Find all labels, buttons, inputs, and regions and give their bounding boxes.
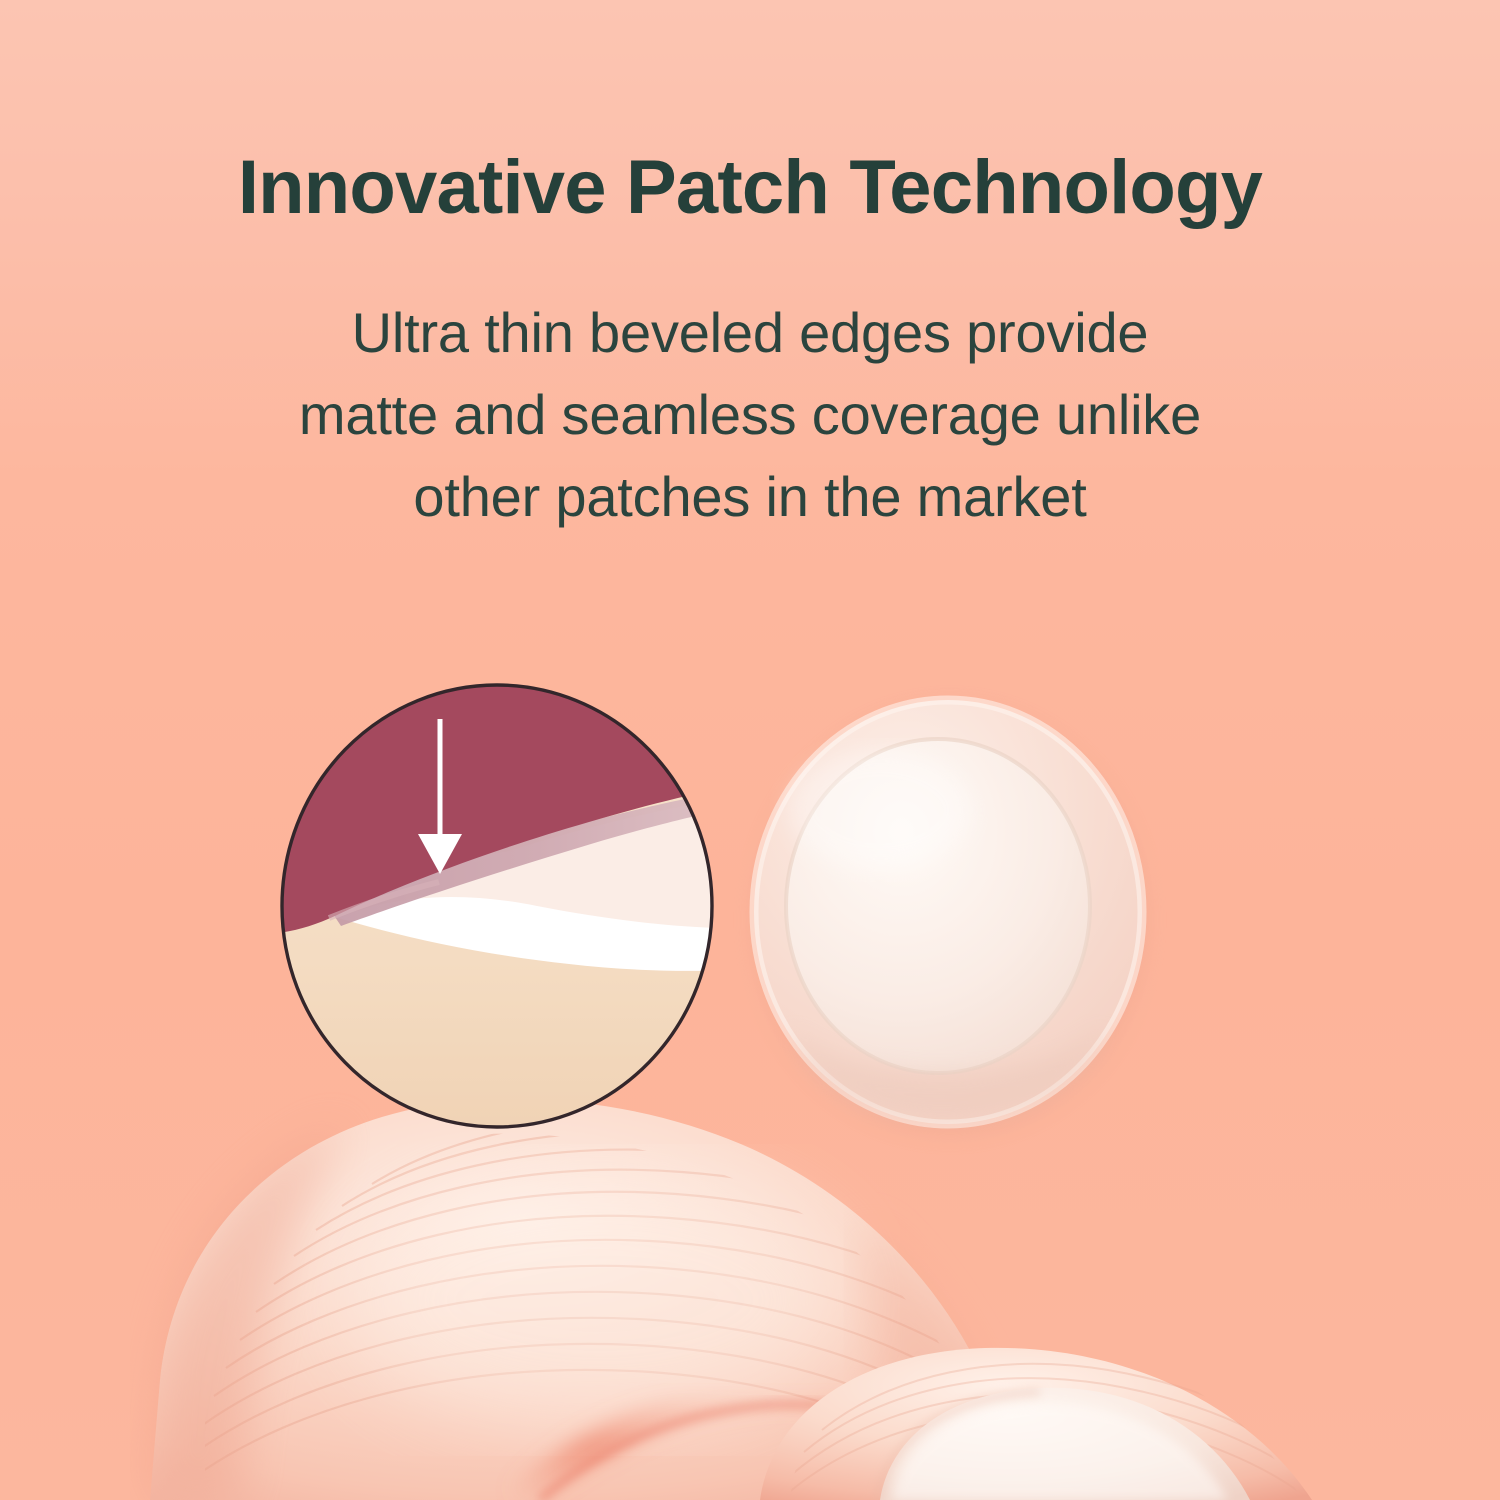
promo-banner: Innovative Patch Technology Ultra thin b… xyxy=(0,0,1500,1500)
page-title: Innovative Patch Technology xyxy=(0,148,1500,228)
product-photo xyxy=(0,600,1500,1500)
beveled-edge-cross-section xyxy=(279,682,715,1130)
acne-patch-disc xyxy=(754,700,1146,1134)
cross-section-svg xyxy=(279,682,715,1130)
subtitle-line-2: matte and seamless coverage unlike xyxy=(140,374,1360,456)
fingertip-photo-svg xyxy=(0,600,1500,1500)
subtitle: Ultra thin beveled edges provide matte a… xyxy=(140,292,1360,537)
subtitle-line-1: Ultra thin beveled edges provide xyxy=(140,292,1360,374)
subtitle-line-3: other patches in the market xyxy=(140,456,1360,538)
